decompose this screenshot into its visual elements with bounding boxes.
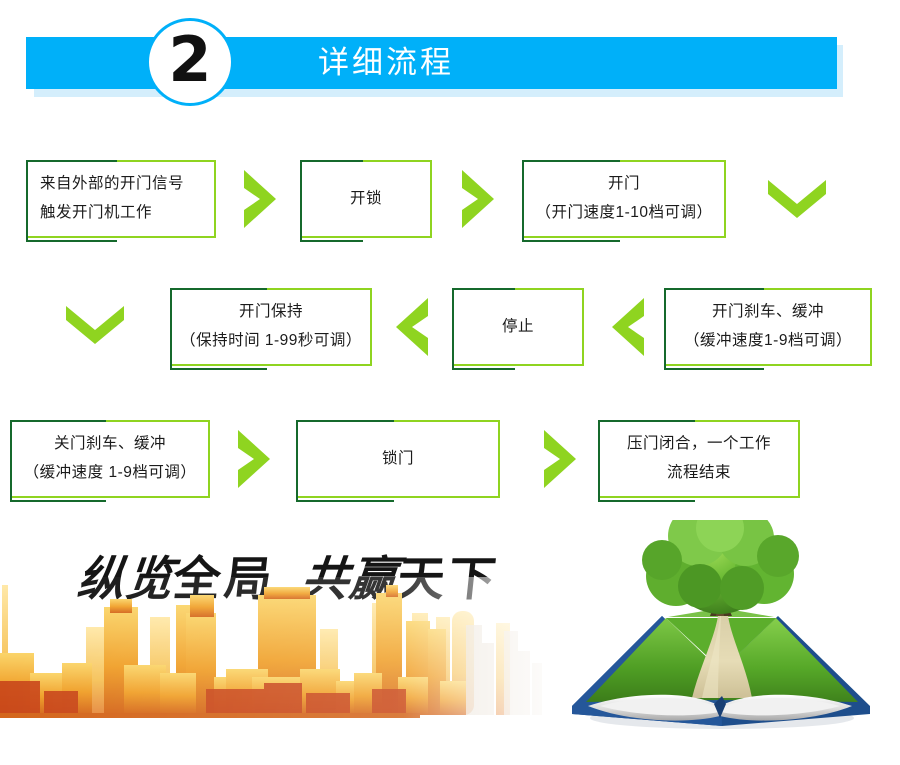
flow-node-line: 开门保持 xyxy=(239,298,303,327)
arrow-right-icon xyxy=(240,168,280,230)
flow-node-close-complete[interactable]: 压门闭合，一个工作 流程结束 xyxy=(598,420,800,498)
flow-node-line: （缓冲速度 1-9档可调） xyxy=(24,459,197,488)
flow-node-external-signal[interactable]: 来自外部的开门信号 触发开门机工作 xyxy=(26,160,216,238)
flow-node-line: 停止 xyxy=(502,313,534,342)
arrow-right-icon xyxy=(540,428,580,490)
flow-node-unlock[interactable]: 开锁 xyxy=(300,160,432,238)
flow-node-close-brake-buffer[interactable]: 关门刹车、缓冲 （缓冲速度 1-9档可调） xyxy=(10,420,210,498)
flow-node-line: 开锁 xyxy=(350,185,382,214)
page-title: 详细流程 xyxy=(318,38,454,88)
city-skyline-image xyxy=(0,577,560,727)
flow-node-open-door[interactable]: 开门 （开门速度1-10档可调） xyxy=(522,160,726,238)
arrow-right-icon xyxy=(458,168,498,230)
arrow-down-icon xyxy=(766,178,828,220)
flow-node-line: 来自外部的开门信号 xyxy=(40,170,184,199)
arrow-left-icon xyxy=(608,296,648,358)
flow-node-line: （缓冲速度1-9档可调） xyxy=(684,327,852,356)
flow-node-open-brake-buffer[interactable]: 开门刹车、缓冲 （缓冲速度1-9档可调） xyxy=(664,288,872,366)
flow-node-line: （开门速度1-10档可调） xyxy=(535,199,712,228)
flow-node-stop[interactable]: 停止 xyxy=(452,288,584,366)
page-header: 详细流程 2 xyxy=(0,0,900,120)
flow-node-line: 开门 xyxy=(608,170,640,199)
step-number-text: 2 xyxy=(149,21,231,103)
flow-node-lock-door[interactable]: 锁门 xyxy=(296,420,500,498)
flow-node-line: 触发开门机工作 xyxy=(40,199,152,228)
flow-node-line: 关门刹车、缓冲 xyxy=(54,430,166,459)
flow-node-line: 锁门 xyxy=(382,445,414,474)
flow-node-line: 开门刹车、缓冲 xyxy=(712,298,824,327)
flow-node-line: 流程结束 xyxy=(667,459,731,488)
flow-node-hold-open[interactable]: 开门保持 （保持时间 1-99秒可调） xyxy=(170,288,372,366)
flow-node-line: 压门闭合，一个工作 xyxy=(627,430,771,459)
arrow-right-icon xyxy=(234,428,274,490)
step-number-badge: 2 xyxy=(146,18,234,106)
arrow-left-icon xyxy=(392,296,432,358)
flow-node-line: （保持时间 1-99秒可调） xyxy=(180,327,362,356)
book-with-tree-image xyxy=(550,520,890,750)
arrow-down-icon xyxy=(64,304,126,346)
bottom-banner: 纵览全局共赢天下 xyxy=(0,520,900,765)
